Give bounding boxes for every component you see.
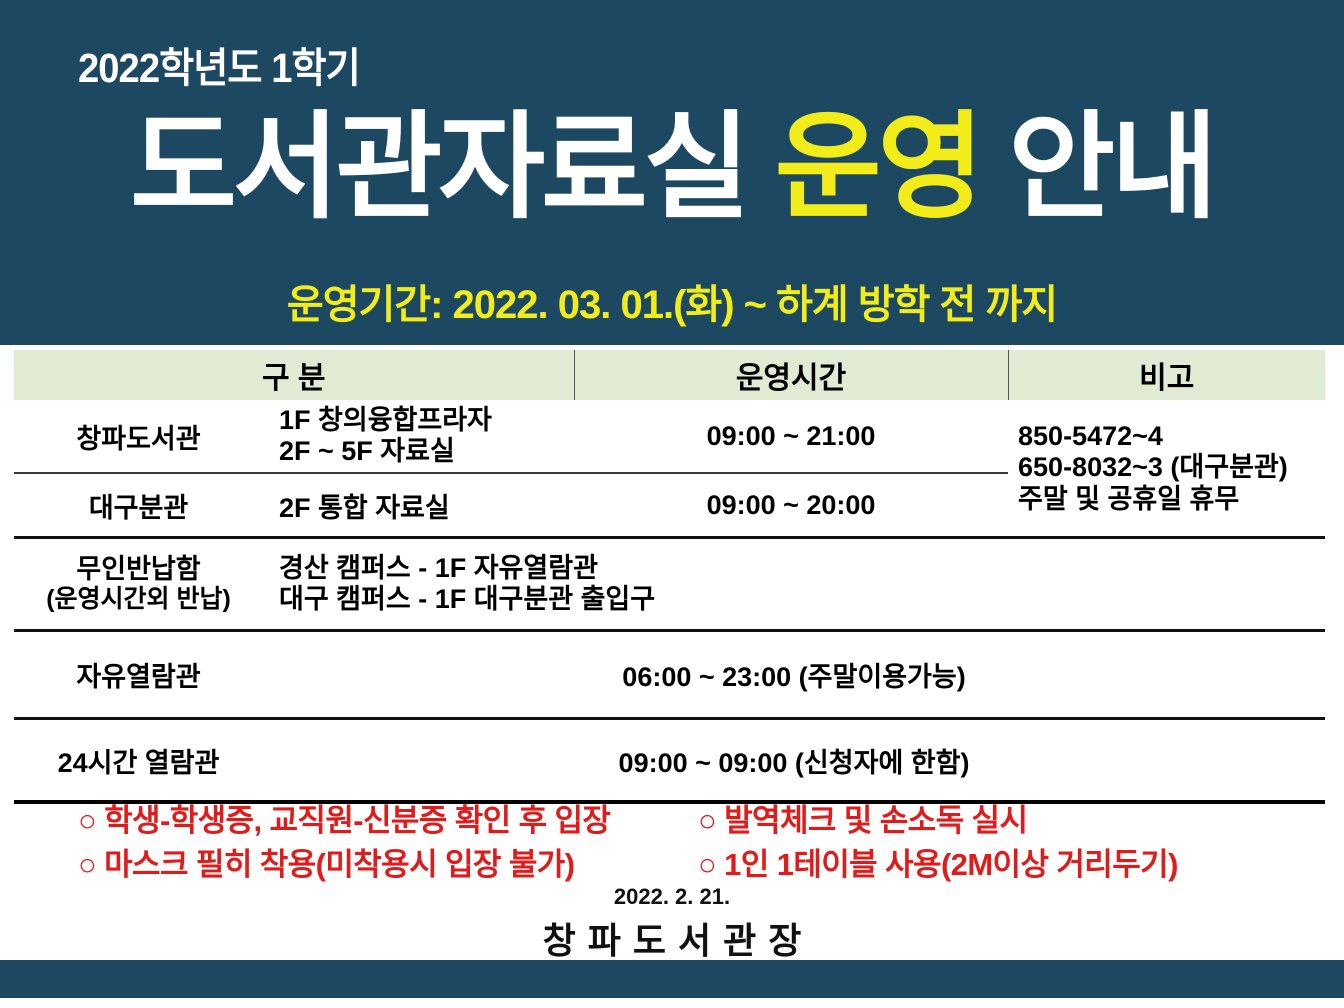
column-header-division: 구 분 — [14, 350, 574, 400]
column-header-remark: 비고 — [1008, 350, 1325, 400]
page-title: 도서관자료실 운영 안내 — [0, 104, 1344, 232]
notice-row-1: ○학생-학생증, 교직원-신분증 확인 후 입장 ○발역체크 및 손소독 실시 — [0, 795, 1344, 839]
notice-item: ○발역체크 및 손소독 실시 — [698, 795, 1027, 840]
circle-bullet-icon: ○ — [78, 847, 96, 882]
remark-line-2: 650-8032~3 (대구분관) — [1018, 452, 1325, 483]
notice-text: 마스크 필히 착용(미착용시 입장 불가) — [104, 847, 574, 882]
row-hours-24h: 09:00 ~ 09:00 (신청자에 한함) — [263, 719, 1325, 801]
row-remark-contact: 850-5472~4 650-8032~3 (대구분관) 주말 및 공휴일 휴무 — [1008, 400, 1325, 538]
title-highlight: 운영 — [775, 102, 980, 232]
column-header-hours: 운영시간 — [574, 350, 1008, 400]
footer-band — [0, 960, 1344, 998]
place-line-1: 1F 창의융합프라자 — [279, 405, 574, 436]
notice-text: 1인 1테이블 사용(2M이상 거리두기) — [724, 847, 1178, 882]
notice-row-2: ○마스크 필히 착용(미착용시 입장 불가) ○1인 1테이블 사용(2M이상 … — [0, 839, 1344, 883]
row-hours-daegu: 09:00 ~ 20:00 — [574, 473, 1008, 538]
title-part-1: 도서관자료실 — [130, 102, 775, 232]
dropbox-line-1: 경산 캠퍼스 - 1F 자유열람관 — [279, 553, 1325, 584]
row-name-reading: 자유열람관 — [14, 631, 263, 719]
circle-bullet-icon: ○ — [698, 803, 716, 838]
row-name-dropbox: 무인반납함 (운영시간외 반납) — [14, 538, 263, 631]
notice-text: 학생-학생증, 교직원-신분증 확인 후 입장 — [104, 803, 610, 838]
circle-bullet-icon: ○ — [698, 847, 716, 882]
schedule-table: 구 분 운영시간 비고 창파도서관 1F 창의융합프라자 2F ~ 5F 자료실… — [14, 350, 1325, 800]
row-place-changpa: 1F 창의융합프라자 2F ~ 5F 자료실 — [263, 400, 574, 473]
row-place-daegu: 2F 통합 자료실 — [263, 473, 574, 538]
table-row: 자유열람관 06:00 ~ 23:00 (주말이용가능) — [14, 631, 1325, 719]
circle-bullet-icon: ○ — [78, 803, 96, 838]
dropbox-name: 무인반납함 — [14, 554, 263, 585]
issuer-signature: 창파도서관장 — [0, 912, 1344, 964]
row-name-24h: 24시간 열람관 — [14, 719, 263, 801]
row-hours-reading: 06:00 ~ 23:00 (주말이용가능) — [263, 631, 1325, 719]
operation-period: 운영기간: 2022. 03. 01.(화) ~ 하계 방학 전 까지 — [0, 272, 1344, 330]
poster-root: 2022학년도 1학기 도서관자료실 운영 안내 운영기간: 2022. 03.… — [0, 0, 1344, 1008]
row-name-changpa: 창파도서관 — [14, 400, 263, 473]
table-row: 24시간 열람관 09:00 ~ 09:00 (신청자에 한함) — [14, 719, 1325, 801]
notice-list: ○학생-학생증, 교직원-신분증 확인 후 입장 ○발역체크 및 손소독 실시 … — [0, 795, 1344, 883]
header-kicker: 2022학년도 1학기 — [78, 34, 360, 94]
dropbox-name-sub: (운영시간외 반납) — [14, 585, 263, 614]
header-band: 2022학년도 1학기 도서관자료실 운영 안내 운영기간: 2022. 03.… — [0, 0, 1344, 345]
dropbox-line-2: 대구 캠퍼스 - 1F 대구분관 출입구 — [279, 584, 1325, 615]
issue-date: 2022. 2. 21. — [0, 884, 1344, 910]
notice-item: ○마스크 필히 착용(미착용시 입장 불가) — [78, 839, 698, 884]
title-part-2: 안내 — [980, 102, 1214, 232]
place-line-2: 2F ~ 5F 자료실 — [279, 436, 574, 467]
row-hours-changpa: 09:00 ~ 21:00 — [574, 400, 1008, 473]
schedule-table-wrapper: 구 분 운영시간 비고 창파도서관 1F 창의융합프라자 2F ~ 5F 자료실… — [14, 350, 1325, 804]
notice-item: ○1인 1테이블 사용(2M이상 거리두기) — [698, 839, 1178, 884]
table-header-row: 구 분 운영시간 비고 — [14, 350, 1325, 400]
row-place-dropbox: 경산 캠퍼스 - 1F 자유열람관 대구 캠퍼스 - 1F 대구분관 출입구 — [263, 538, 1325, 631]
table-row: 무인반납함 (운영시간외 반납) 경산 캠퍼스 - 1F 자유열람관 대구 캠퍼… — [14, 538, 1325, 631]
table-row: 창파도서관 1F 창의융합프라자 2F ~ 5F 자료실 09:00 ~ 21:… — [14, 400, 1325, 473]
remark-line-1: 850-5472~4 — [1018, 421, 1325, 452]
remark-line-3: 주말 및 공휴일 휴무 — [1018, 484, 1325, 515]
row-name-daegu: 대구분관 — [14, 473, 263, 538]
notice-item: ○학생-학생증, 교직원-신분증 확인 후 입장 — [78, 795, 698, 840]
notice-text: 발역체크 및 손소독 실시 — [724, 803, 1027, 838]
